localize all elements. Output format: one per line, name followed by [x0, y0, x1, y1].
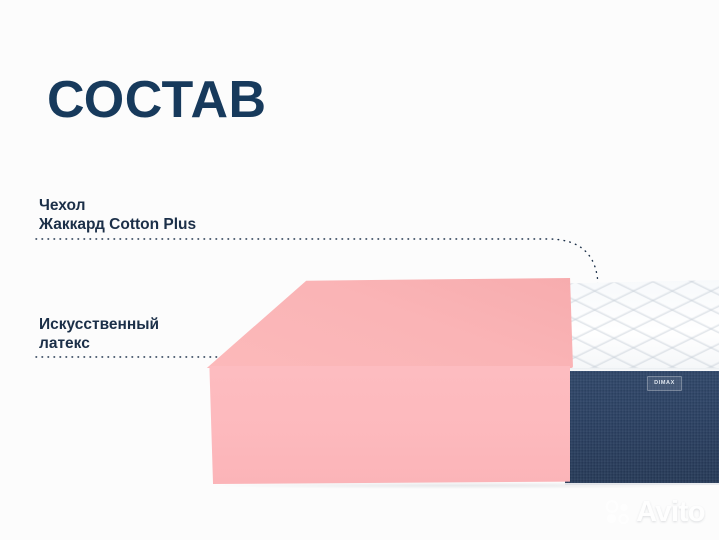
- callout-cover-label: Чехол Жаккард Cotton Plus: [39, 196, 196, 234]
- latex-layer-front-face: [205, 366, 570, 484]
- ground-shadow: [210, 482, 715, 489]
- avito-dots-icon: [605, 500, 631, 526]
- mattress-illustration: DIMAX: [0, 250, 719, 500]
- page-title: СОСТАВ: [47, 74, 267, 126]
- callout-cover-line2: Жаккард Cotton Plus: [39, 215, 196, 234]
- callout-cover-line1: Чехол: [39, 196, 196, 215]
- quilted-cover-top-face: [548, 280, 719, 372]
- infographic-canvas: СОСТАВ Чехол Жаккард Cotton Plus Искусст…: [0, 0, 719, 540]
- latex-layer-top-face: [205, 278, 573, 368]
- avito-watermark: Avito: [605, 498, 705, 527]
- brand-badge: DIMAX: [647, 376, 682, 391]
- side-fabric-panel: DIMAX: [565, 371, 719, 485]
- avito-wordmark: Avito: [636, 498, 705, 527]
